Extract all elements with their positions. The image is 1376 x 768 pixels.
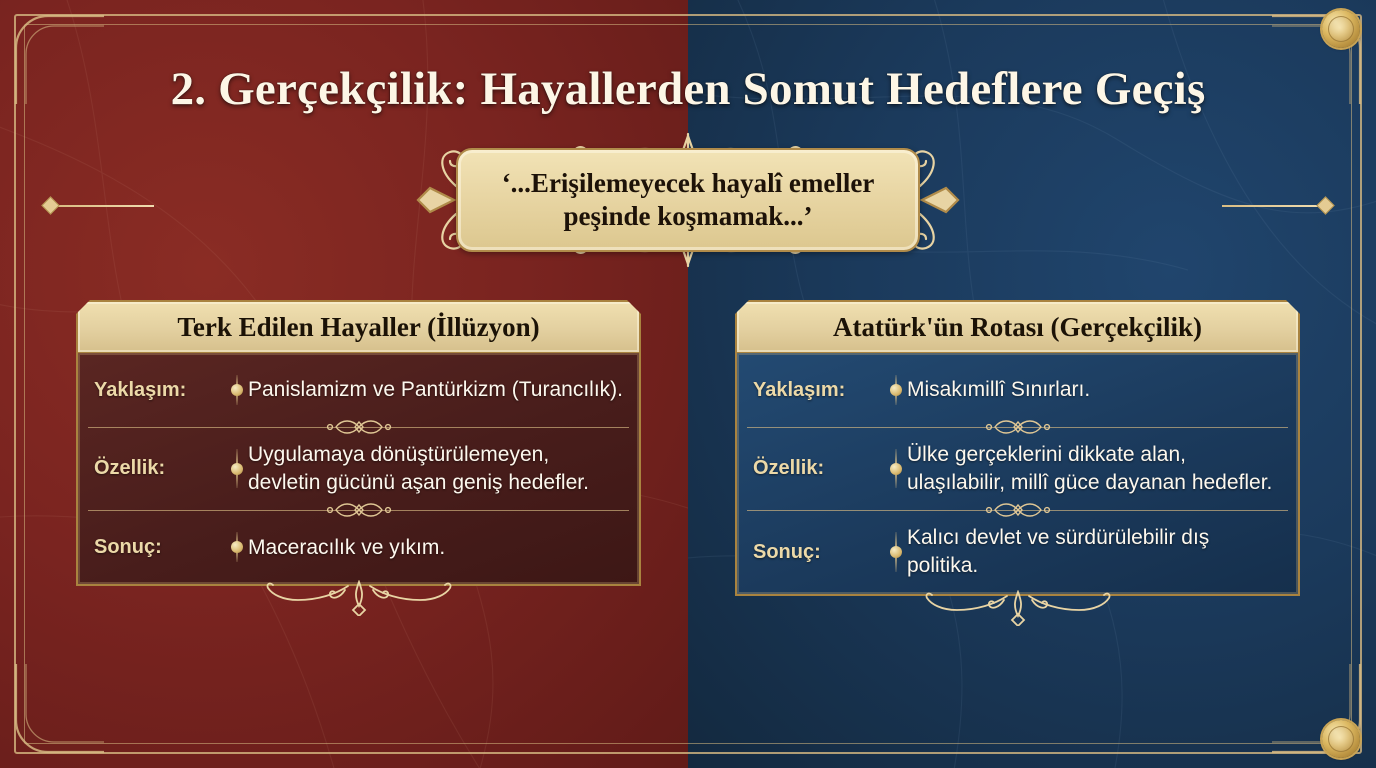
panel-abandoned-dreams: Terk Edilen Hayaller (İllüzyon) Yaklaşım… bbox=[76, 300, 641, 586]
quote-plate: ‘...Erişilemeyecek hayalî emeller peşind… bbox=[456, 148, 920, 252]
side-rule-left-icon bbox=[44, 204, 154, 207]
divider-dot-icon bbox=[890, 546, 902, 558]
table-row: Özellik: Uygulamaya dönüştürülemeyen, de… bbox=[78, 427, 639, 510]
quote-line-1: ‘...Erişilemeyecek hayalî emeller bbox=[502, 167, 875, 200]
knot-flourish-icon bbox=[322, 501, 396, 519]
panel-header-left: Terk Edilen Hayaller (İllüzyon) bbox=[76, 300, 641, 352]
table-row: Özellik: Ülke gerçeklerini dikkate alan,… bbox=[737, 427, 1298, 510]
row-divider-icon bbox=[226, 524, 248, 570]
row-value: Ülke gerçeklerini dikkate alan, ulaşılab… bbox=[907, 441, 1282, 496]
divider-dot-icon bbox=[890, 463, 902, 475]
quote-cartouche: ‘...Erişilemeyecek hayalî emeller peşind… bbox=[378, 126, 998, 274]
panel-heading-text: Terk Edilen Hayaller (İllüzyon) bbox=[177, 312, 539, 343]
gold-medallion-icon-top-right bbox=[1322, 10, 1360, 48]
divider-dot-icon bbox=[890, 384, 902, 396]
quote-line-2: peşinde koşmamak...’ bbox=[502, 200, 875, 233]
row-label: Yaklaşım: bbox=[94, 379, 226, 402]
scroll-flourish-icon-right bbox=[903, 590, 1133, 626]
row-value: Panislamizm ve Pantürkizm (Turancılık). bbox=[248, 376, 623, 404]
table-row: Sonuç: Maceracılık ve yıkım. bbox=[78, 510, 639, 584]
row-value: Kalıcı devlet ve sürdürülebilir dış poli… bbox=[907, 524, 1282, 579]
row-value: Maceracılık ve yıkım. bbox=[248, 534, 623, 562]
row-divider-icon bbox=[885, 524, 907, 579]
row-label: Sonuç: bbox=[753, 541, 885, 564]
row-divider-icon bbox=[885, 367, 907, 413]
slide-stage: 2. Gerçekçilik: Hayallerden Somut Hedefl… bbox=[0, 0, 1376, 768]
table-row: Yaklaşım: Misakımillî Sınırları. bbox=[737, 353, 1298, 427]
page-title: 2. Gerçekçilik: Hayallerden Somut Hedefl… bbox=[0, 62, 1376, 116]
row-divider-icon bbox=[226, 441, 248, 496]
side-rule-right-icon bbox=[1222, 204, 1332, 207]
divider-dot-icon bbox=[231, 384, 243, 396]
panel-body-right: Yaklaşım: Misakımillî Sınırları. Özellik… bbox=[735, 352, 1300, 596]
row-divider-icon bbox=[226, 367, 248, 413]
panel-heading-text: Atatürk'ün Rotası (Gerçekçilik) bbox=[833, 312, 1202, 343]
divider-dot-icon bbox=[231, 541, 243, 553]
knot-flourish-icon bbox=[981, 501, 1055, 519]
gold-medallion-icon-bottom-right bbox=[1322, 720, 1360, 758]
row-label: Özellik: bbox=[94, 457, 226, 480]
row-label: Sonuç: bbox=[94, 536, 226, 559]
row-value: Uygulamaya dönüştürülemeyen, devletin gü… bbox=[248, 441, 623, 496]
row-divider-icon bbox=[885, 441, 907, 496]
corner-ornament-bottom-left-icon bbox=[8, 664, 104, 760]
panel-ataturk-route: Atatürk'ün Rotası (Gerçekçilik) Yaklaşım… bbox=[735, 300, 1300, 596]
row-label: Yaklaşım: bbox=[753, 379, 885, 402]
row-label: Özellik: bbox=[753, 457, 885, 480]
table-row: Yaklaşım: Panislamizm ve Pantürkizm (Tur… bbox=[78, 353, 639, 427]
table-row: Sonuç: Kalıcı devlet ve sürdürülebilir d… bbox=[737, 510, 1298, 593]
panel-body-left: Yaklaşım: Panislamizm ve Pantürkizm (Tur… bbox=[76, 352, 641, 586]
knot-flourish-icon bbox=[981, 418, 1055, 436]
knot-flourish-icon bbox=[322, 418, 396, 436]
quote-text: ‘...Erişilemeyecek hayalî emeller peşind… bbox=[492, 167, 885, 233]
rule-bar bbox=[1222, 205, 1319, 207]
scroll-flourish-icon-left bbox=[244, 580, 474, 616]
rule-bar bbox=[57, 205, 154, 207]
panel-header-right: Atatürk'ün Rotası (Gerçekçilik) bbox=[735, 300, 1300, 352]
divider-dot-icon bbox=[231, 463, 243, 475]
row-value: Misakımillî Sınırları. bbox=[907, 376, 1282, 404]
